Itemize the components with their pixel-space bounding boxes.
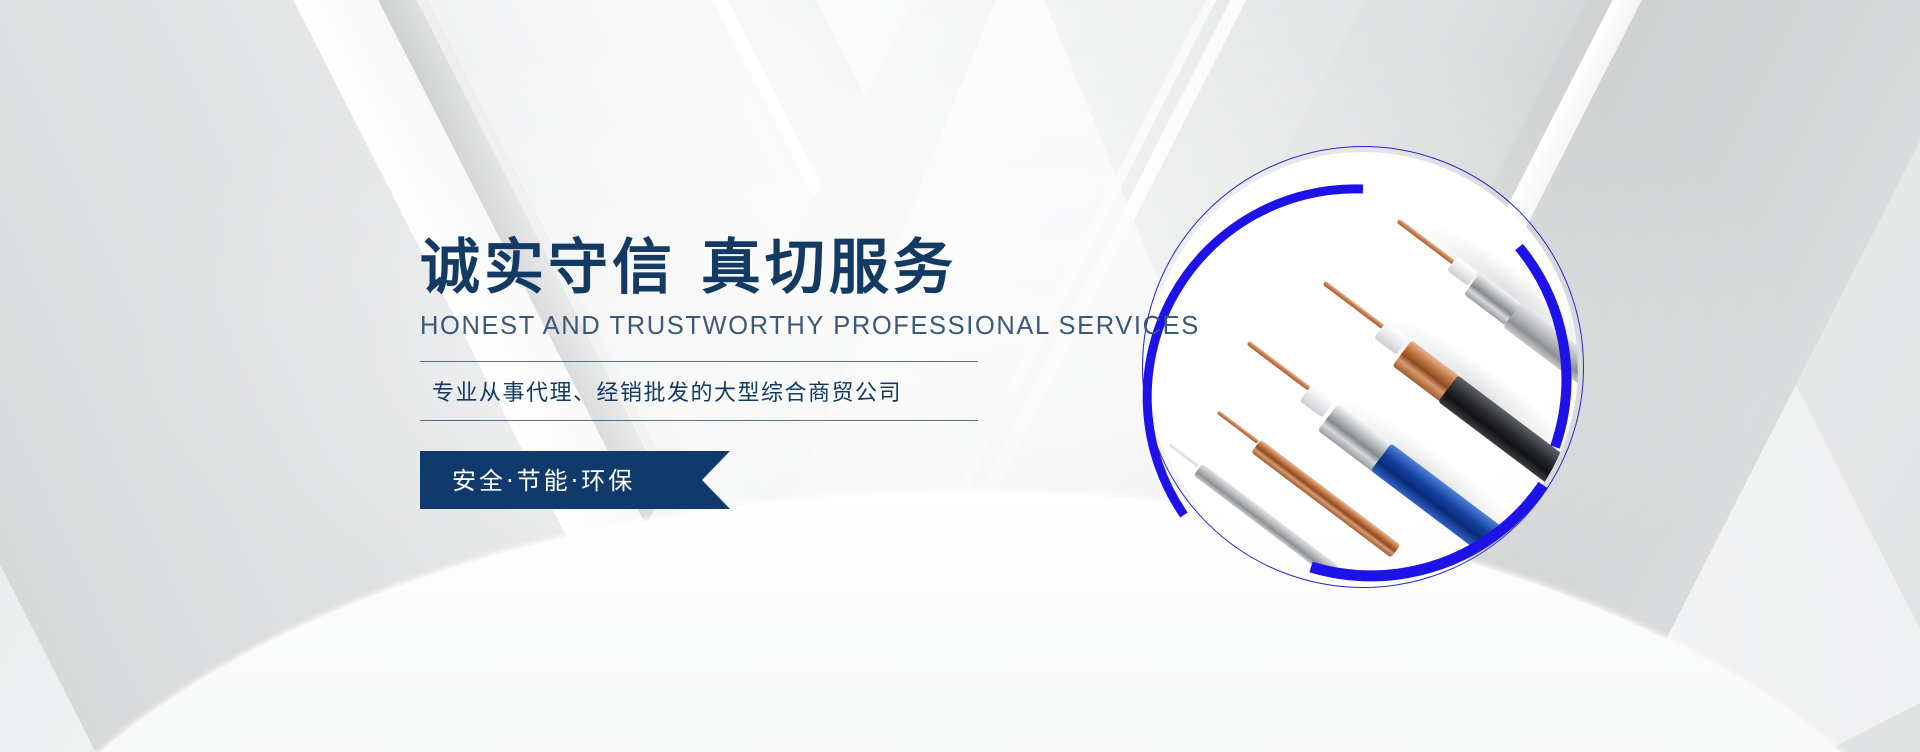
product-circle (1148, 152, 1578, 582)
description-text: 专业从事代理、经销批发的大型综合商贸公司 (420, 362, 978, 420)
description-block: 专业从事代理、经销批发的大型综合商贸公司 (420, 361, 978, 421)
status-badge: 安全·节能·环保 (420, 451, 730, 509)
hero-banner: 诚实守信 真切服务 HONEST AND TRUSTWORTHY PROFESS… (0, 0, 1920, 752)
blue-thick-arc-right (1519, 247, 1566, 447)
badge-wrapper: 安全·节能·环保 (420, 451, 1080, 509)
page-subtitle: HONEST AND TRUSTWORTHY PROFESSIONAL SERV… (420, 312, 1080, 341)
blue-thick-arc-bottom (1311, 485, 1543, 576)
hero-copy: 诚实守信 真切服务 HONEST AND TRUSTWORTHY PROFESS… (420, 238, 1080, 509)
divider-bottom (420, 420, 978, 421)
blue-thick-arc-left (1147, 189, 1363, 515)
divider-top (420, 361, 978, 362)
badge-label: 安全·节能·环保 (452, 467, 635, 495)
page-title: 诚实守信 真切服务 (420, 238, 1080, 298)
blue-arc-overlay (1122, 126, 1604, 608)
